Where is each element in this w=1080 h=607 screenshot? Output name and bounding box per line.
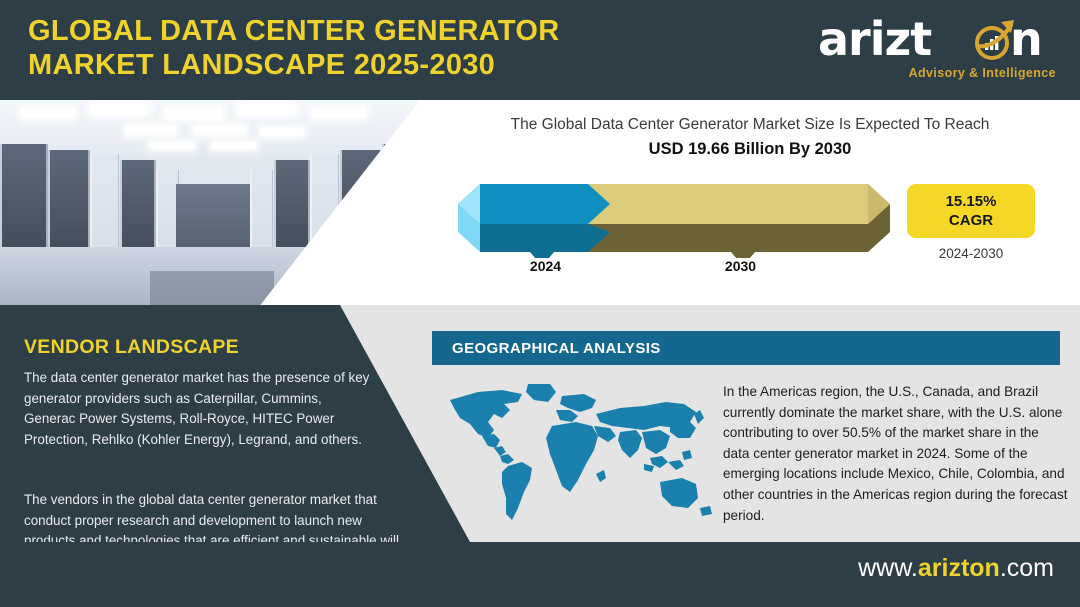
ceiling-light [166, 108, 222, 119]
website-url[interactable]: www.arizton.com [858, 554, 1054, 583]
vendor-paragraph-1: The data center generator market has the… [24, 368, 376, 450]
geographical-analysis-heading-text: GEOGRAPHICAL ANALYSIS [452, 340, 661, 357]
page-title-line2: MARKET LANDSCAPE 2025-2030 [28, 48, 668, 82]
logo-wordmark: arizt n [818, 14, 1058, 64]
cagr-label: CAGR [949, 211, 993, 230]
cagr-period: 2024-2030 [907, 246, 1035, 261]
url-suffix: .com [1000, 554, 1054, 582]
url-brand: arizton [918, 554, 1000, 582]
hero-headline-value: USD 19.66 Billion By 2030 [420, 140, 1080, 159]
footer-bar: www.arizton.com [0, 542, 1080, 607]
ceiling-light [260, 128, 304, 136]
ceiling-light [238, 104, 296, 115]
floor-tiles [150, 271, 274, 305]
ceiling-light [150, 142, 194, 149]
url-prefix: www. [858, 554, 918, 582]
vendor-landscape-heading: VENDOR LANDSCAPE [24, 336, 239, 359]
geographical-analysis-header: GEOGRAPHICAL ANALYSIS [432, 331, 1060, 365]
cagr-badge: 15.15% CAGR [907, 184, 1035, 238]
hero-panel: The Global Data Center Generator Market … [420, 100, 1080, 305]
bar-label-2030: 2030 [588, 258, 893, 274]
cagr-value: 15.15% [946, 192, 997, 211]
ceiling-light [312, 108, 366, 118]
arizton-logo[interactable]: arizt n Advisory & Intelligence [818, 14, 1058, 88]
header-bar: GLOBAL DATA CENTER GENERATOR MARKET LAND… [0, 0, 1080, 100]
infographic-page: GLOBAL DATA CENTER GENERATOR MARKET LAND… [0, 0, 1080, 607]
logo-tagline: Advisory & Intelligence [909, 66, 1056, 80]
logo-wordmark-text: arizt [818, 14, 931, 64]
ceiling-light [22, 108, 74, 118]
page-title: GLOBAL DATA CENTER GENERATOR MARKET LAND… [28, 14, 668, 82]
ceiling-light [90, 104, 148, 115]
world-map [444, 378, 716, 530]
bar-2030 [588, 178, 893, 258]
logo-arrow-chart-icon [970, 16, 1018, 64]
hero-subtitle: The Global Data Center Generator Market … [420, 116, 1080, 134]
market-size-bar-chart: 2024 2030 15.15% CAGR 2024-2030 [420, 170, 1080, 290]
ceiling-light [126, 126, 176, 135]
geographical-analysis-paragraph: In the Americas region, the U.S., Canada… [723, 382, 1068, 526]
ceiling-light [212, 142, 256, 149]
ceiling-light [194, 126, 246, 135]
page-title-line1: GLOBAL DATA CENTER GENERATOR [28, 14, 668, 48]
